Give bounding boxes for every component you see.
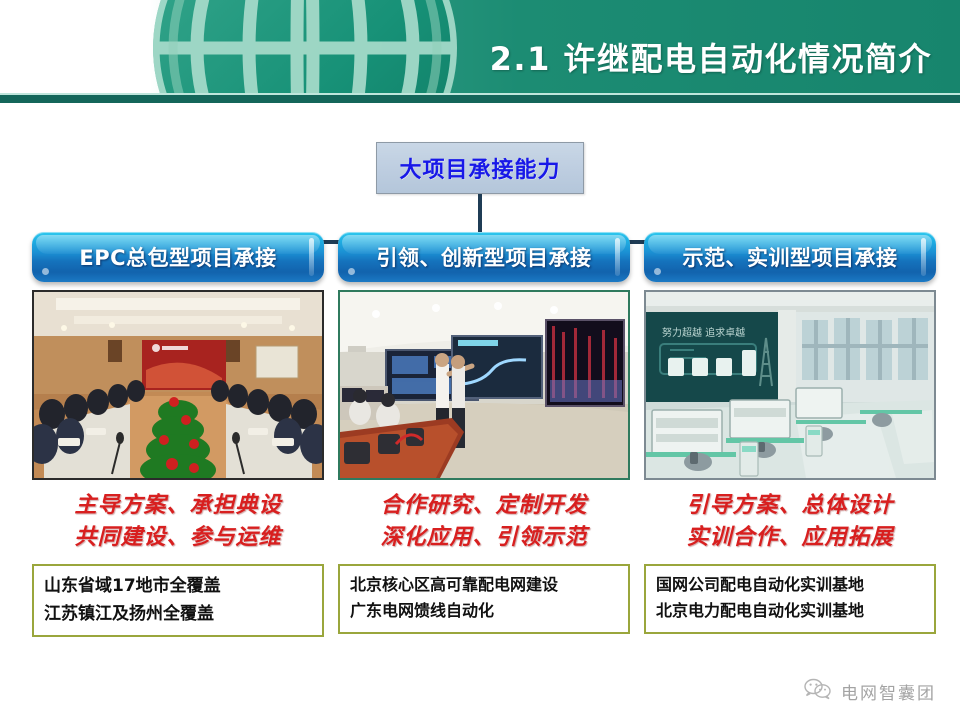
branch-slogan-1-line-1: 主导方案、承担典设	[32, 490, 324, 522]
watermark: 电网智囊团	[803, 677, 936, 706]
branch-pill-3[interactable]: 示范、实训型项目承接	[644, 232, 936, 282]
branch-photo-1	[32, 290, 324, 480]
branch-photo-2	[338, 290, 630, 480]
branch-pill-1[interactable]: EPC总包型项目承接	[32, 232, 324, 282]
pill-dot-icon	[42, 268, 49, 275]
branch-factbox-2: 北京核心区高可靠配电网建设 广东电网馈线自动化	[338, 564, 630, 634]
branch-pill-2[interactable]: 引领、创新型项目承接	[338, 232, 630, 282]
slide-header: 2.1 许继配电自动化情况简介	[0, 0, 960, 96]
branch-column-3: 示范、实训型项目承接 努力超越 追求卓越	[644, 232, 936, 634]
globe-grid-icon	[140, 0, 470, 96]
pill-dot-icon	[348, 268, 355, 275]
page-title: 2.1 许继配电自动化情况简介	[490, 34, 932, 80]
pill-highlight-icon	[615, 238, 620, 276]
branch-column-2: 引领、创新型项目承接	[338, 232, 630, 634]
pill-highlight-icon	[309, 238, 314, 276]
branch-fact-2-line-2: 广东电网馈线自动化	[350, 598, 620, 624]
root-node-label: 大项目承接能力	[399, 152, 560, 184]
branch-fact-1-line-2: 江苏镇江及扬州全覆盖	[44, 600, 314, 628]
branch-slogan-1: 主导方案、承担典设 共同建设、参与运维	[32, 490, 324, 554]
watermark-text: 电网智囊团	[841, 679, 936, 704]
branch-fact-2-line-1: 北京核心区高可靠配电网建设	[350, 572, 620, 598]
branch-factbox-1: 山东省域17地市全覆盖 江苏镇江及扬州全覆盖	[32, 564, 324, 637]
branch-slogan-3-line-2: 实训合作、应用拓展	[644, 522, 936, 554]
branch-fact-3-line-1: 国网公司配电自动化实训基地	[656, 572, 926, 598]
pill-highlight-icon	[921, 238, 926, 276]
branch-pill-1-label: EPC总包型项目承接	[79, 242, 276, 272]
root-node[interactable]: 大项目承接能力	[376, 142, 584, 194]
branch-slogan-3-line-1: 引导方案、总体设计	[644, 490, 936, 522]
branch-photo-3: 努力超越 追求卓越	[644, 290, 936, 480]
branch-fact-1-line-1: 山东省域17地市全覆盖	[44, 572, 314, 600]
branch-pill-3-label: 示范、实训型项目承接	[683, 242, 898, 272]
branch-slogan-2-line-1: 合作研究、定制开发	[338, 490, 630, 522]
branch-fact-3-line-2: 北京电力配电自动化实训基地	[656, 598, 926, 624]
slide-canvas: 2.1 许继配电自动化情况简介 大项目承接能力 EPC总包型项目承接	[0, 0, 960, 720]
svg-text:努力超越 追求卓越: 努力超越 追求卓越	[662, 326, 745, 339]
branch-pill-2-label: 引领、创新型项目承接	[377, 242, 592, 272]
branch-column-1: EPC总包型项目承接	[32, 232, 324, 637]
pill-dot-icon	[654, 268, 661, 275]
branch-slogan-2-line-2: 深化应用、引领示范	[338, 522, 630, 554]
branch-slogan-3: 引导方案、总体设计 实训合作、应用拓展	[644, 490, 936, 554]
branch-factbox-3: 国网公司配电自动化实训基地 北京电力配电自动化实训基地	[644, 564, 936, 634]
branch-slogan-2: 合作研究、定制开发 深化应用、引领示范	[338, 490, 630, 554]
wechat-icon	[803, 677, 833, 706]
header-rule	[0, 95, 960, 103]
branch-slogan-1-line-2: 共同建设、参与运维	[32, 522, 324, 554]
